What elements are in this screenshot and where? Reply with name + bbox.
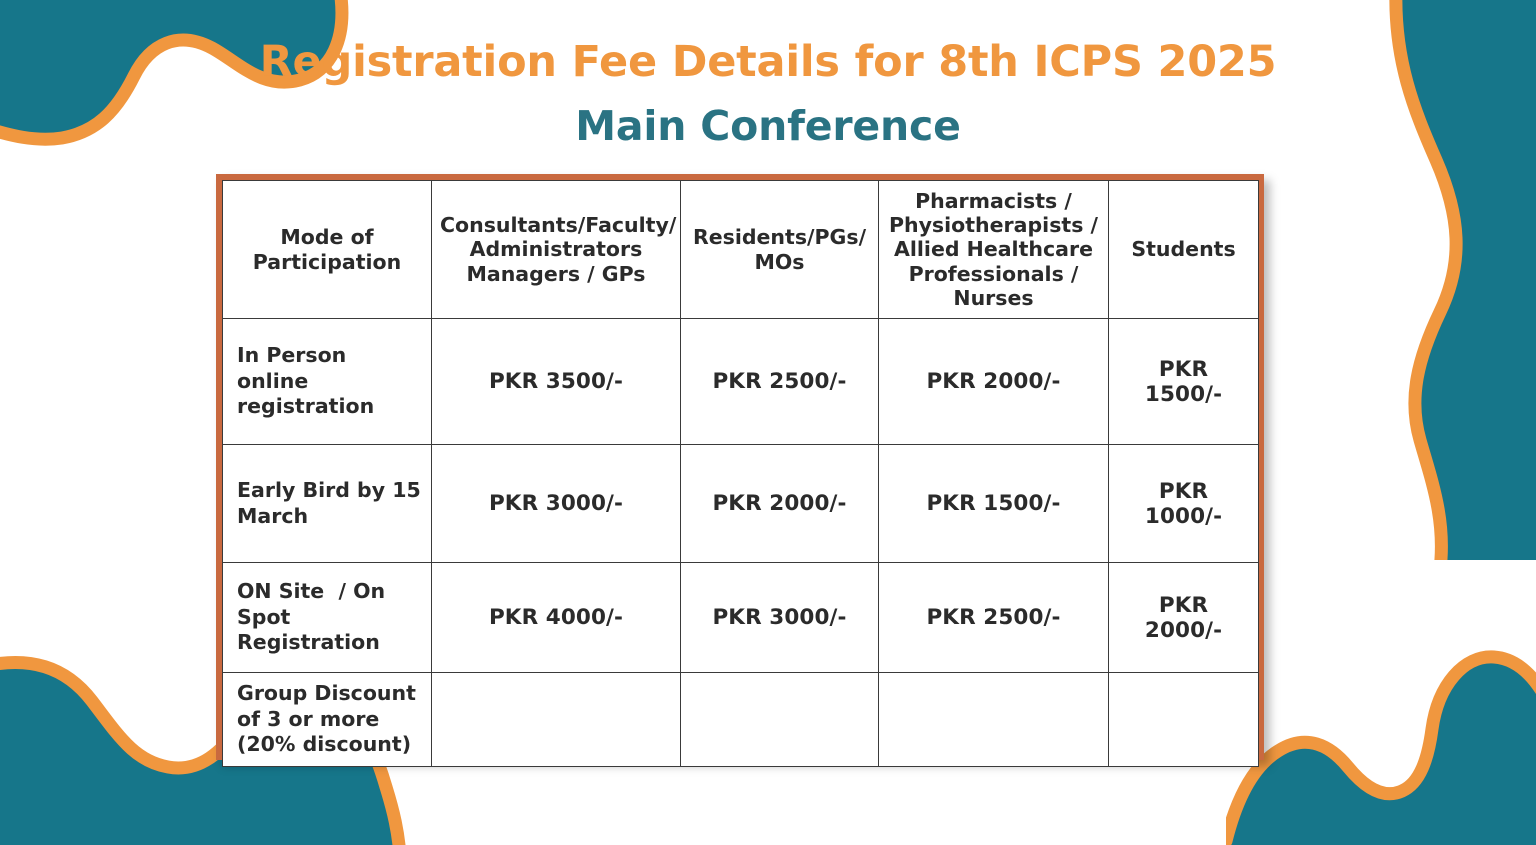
fee-pharmacists: PKR 2000/-: [879, 319, 1109, 445]
column-header-residents: Residents/PGs/ MOs: [681, 181, 879, 319]
table-row: Early Bird by 15 March PKR 3000/- PKR 20…: [223, 445, 1259, 563]
fee-pharmacists: PKR 2500/-: [879, 563, 1109, 673]
fee-consultants: [432, 673, 681, 767]
row-label-in-person-online: In Person online registration: [223, 319, 432, 445]
fee-residents: PKR 2000/-: [681, 445, 879, 563]
fee-students: PKR 2000/-: [1109, 563, 1259, 673]
heading-block: Registration Fee Details for 8th ICPS 20…: [0, 38, 1536, 150]
fee-pharmacists: [879, 673, 1109, 767]
table-row: ON Site / On Spot Registration PKR 4000/…: [223, 563, 1259, 673]
fee-residents: [681, 673, 879, 767]
fee-students: PKR 1000/-: [1109, 445, 1259, 563]
fee-consultants: PKR 3500/-: [432, 319, 681, 445]
row-label-early-bird: Early Bird by 15 March: [223, 445, 432, 563]
fee-pharmacists: PKR 1500/-: [879, 445, 1109, 563]
column-header-pharmacists: Pharmacists / Physiotherapists / Allied …: [879, 181, 1109, 319]
column-header-students: Students: [1109, 181, 1259, 319]
table-row: In Person online registration PKR 3500/-…: [223, 319, 1259, 445]
page-subtitle: Main Conference: [0, 103, 1536, 150]
fee-students: PKR 1500/-: [1109, 319, 1259, 445]
registration-fee-table: Mode of Participation Consultants/Facult…: [222, 180, 1259, 767]
page-title: Registration Fee Details for 8th ICPS 20…: [0, 38, 1536, 87]
fee-consultants: PKR 3000/-: [432, 445, 681, 563]
slide-canvas: Registration Fee Details for 8th ICPS 20…: [0, 0, 1536, 845]
row-label-group-discount: Group Discount of 3 or more (20% discoun…: [223, 673, 432, 767]
fee-table-container: Mode of Participation Consultants/Facult…: [216, 174, 1264, 760]
fee-residents: PKR 2500/-: [681, 319, 879, 445]
decorative-blob-bottom-right: [1226, 615, 1536, 845]
table-header-row: Mode of Participation Consultants/Facult…: [223, 181, 1259, 319]
table-row: Group Discount of 3 or more (20% discoun…: [223, 673, 1259, 767]
column-header-mode: Mode of Participation: [223, 181, 432, 319]
column-header-consultants: Consultants/Faculty/ Administrators Mana…: [432, 181, 681, 319]
fee-consultants: PKR 4000/-: [432, 563, 681, 673]
fee-residents: PKR 3000/-: [681, 563, 879, 673]
fee-students: [1109, 673, 1259, 767]
row-label-on-site: ON Site / On Spot Registration: [223, 563, 432, 673]
